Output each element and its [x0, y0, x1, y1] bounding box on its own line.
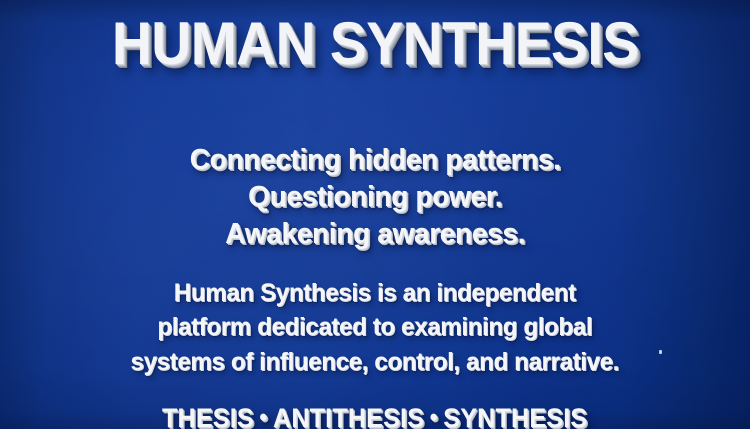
tagline-line-1: Connecting hidden patterns. [190, 142, 561, 179]
page-title: HUMAN SYNTHESIS [112, 14, 639, 74]
motto-part-thesis: THESIS [162, 403, 254, 429]
motto-part-synthesis: SYNTHESIS [444, 403, 588, 429]
tagline-line-2: Questioning power. [190, 179, 561, 216]
poster-canvas: HUMAN SYNTHESIS Connecting hidden patter… [0, 0, 750, 429]
image-artifact-speck [659, 350, 662, 354]
description-line-2: platform dedicated to examining global [131, 310, 619, 345]
bullet-separator-icon: • [424, 406, 443, 429]
description-line-3: systems of influence, control, and narra… [131, 345, 619, 380]
motto-part-antithesis: ANTITHESIS [273, 403, 424, 429]
tagline-block: Connecting hidden patterns. Questioning … [190, 142, 561, 253]
description-line-1: Human Synthesis is an independent [131, 276, 619, 311]
tagline-line-3: Awakening awareness. [190, 216, 561, 253]
motto-line: THESIS•ANTITHESIS•SYNTHESIS [162, 405, 587, 429]
description-block: Human Synthesis is an independent platfo… [131, 276, 619, 380]
poster-content: HUMAN SYNTHESIS Connecting hidden patter… [0, 0, 750, 429]
bullet-separator-icon: • [254, 406, 273, 429]
